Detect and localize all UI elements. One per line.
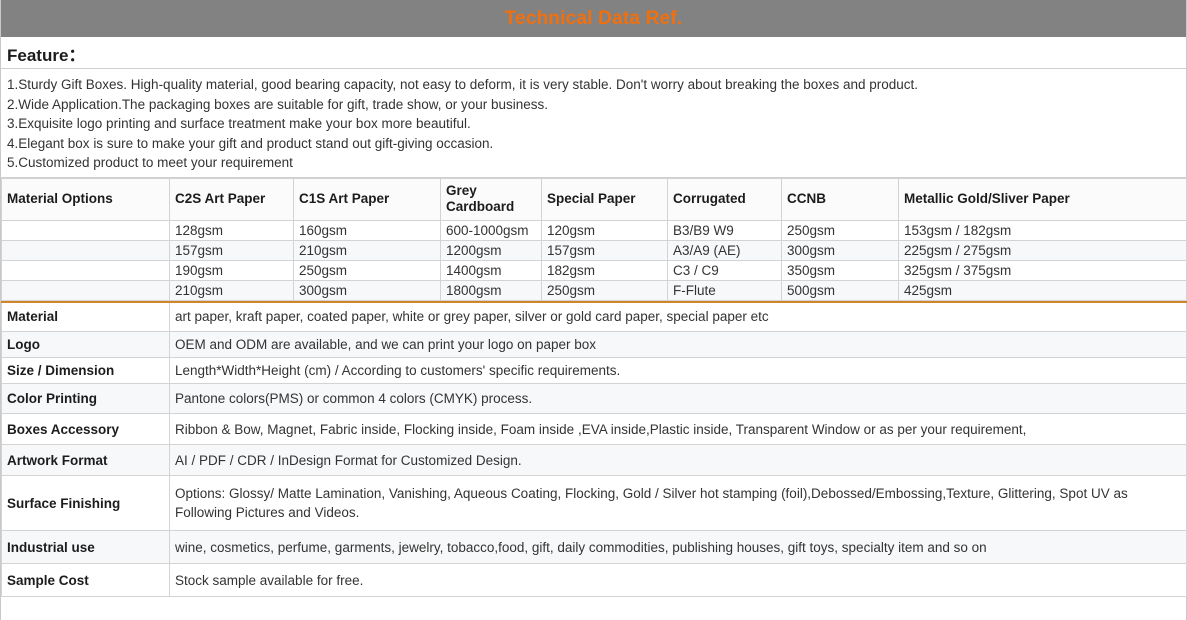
table-cell: 1400gsm bbox=[441, 260, 542, 280]
table-cell: 425gsm bbox=[899, 280, 1187, 300]
spec-value: Options: Glossy/ Matte Lamination, Vanis… bbox=[170, 476, 1187, 531]
table-header-cell: Metallic Gold/Sliver Paper bbox=[899, 178, 1187, 220]
table-cell: 1800gsm bbox=[441, 280, 542, 300]
spec-key: Color Printing bbox=[2, 384, 170, 414]
spec-value: Length*Width*Height (cm) / According to … bbox=[170, 358, 1187, 384]
table-header-cell: Corrugated bbox=[668, 178, 782, 220]
spec-value: Stock sample available for free. bbox=[170, 564, 1187, 597]
page-title: Technical Data Ref. bbox=[505, 8, 683, 30]
spec-row-surface-finishing: Surface Finishing Options: Glossy/ Matte… bbox=[2, 476, 1187, 531]
spec-key: Boxes Accessory bbox=[2, 414, 170, 445]
table-cell: 182gsm bbox=[542, 260, 668, 280]
technical-data-page: Technical Data Ref. Feature： 1.Sturdy Gi… bbox=[0, 0, 1187, 620]
table-cell: 225gsm / 275gsm bbox=[899, 240, 1187, 260]
table-row: 190gsm 250gsm 1400gsm 182gsm C3 / C9 350… bbox=[2, 260, 1187, 280]
table-cell: 153gsm / 182gsm bbox=[899, 220, 1187, 240]
spec-value: AI / PDF / CDR / InDesign Format for Cus… bbox=[170, 445, 1187, 476]
spec-row-logo: Logo OEM and ODM are available, and we c… bbox=[2, 332, 1187, 358]
table-header-cell: C2S Art Paper bbox=[170, 178, 294, 220]
spec-row-size: Size / Dimension Length*Width*Height (cm… bbox=[2, 358, 1187, 384]
table-cell: 210gsm bbox=[170, 280, 294, 300]
spec-row-color-printing: Color Printing Pantone colors(PMS) or co… bbox=[2, 384, 1187, 414]
spec-value: Pantone colors(PMS) or common 4 colors (… bbox=[170, 384, 1187, 414]
table-cell: 600-1000gsm bbox=[441, 220, 542, 240]
table-header-cell: CCNB bbox=[782, 178, 899, 220]
feature-item: 1.Sturdy Gift Boxes. High-quality materi… bbox=[7, 75, 1180, 95]
table-header-cell: Grey Cardboard bbox=[441, 178, 542, 220]
page-banner: Technical Data Ref. bbox=[1, 0, 1186, 38]
table-cell: 190gsm bbox=[170, 260, 294, 280]
feature-heading: Feature： bbox=[1, 38, 1186, 69]
table-cell: 350gsm bbox=[782, 260, 899, 280]
spec-key: Artwork Format bbox=[2, 445, 170, 476]
table-cell: 250gsm bbox=[782, 220, 899, 240]
spec-key: Material bbox=[2, 302, 170, 332]
spec-row-material: Material art paper, kraft paper, coated … bbox=[2, 302, 1187, 332]
table-cell: 250gsm bbox=[294, 260, 441, 280]
table-cell: 160gsm bbox=[294, 220, 441, 240]
table-row: 157gsm 210gsm 1200gsm 157gsm A3/A9 (AE) … bbox=[2, 240, 1187, 260]
feature-item: 3.Exquisite logo printing and surface tr… bbox=[7, 114, 1180, 134]
spec-row-industrial-use: Industrial use wine, cosmetics, perfume,… bbox=[2, 531, 1187, 564]
feature-item: 2.Wide Application.The packaging boxes a… bbox=[7, 95, 1180, 115]
material-options-table: Material Options C2S Art Paper C1S Art P… bbox=[1, 178, 1187, 301]
spec-value: Ribbon & Bow, Magnet, Fabric inside, Flo… bbox=[170, 414, 1187, 445]
feature-heading-label: Feature： bbox=[7, 41, 85, 66]
table-cell bbox=[2, 220, 170, 240]
table-cell: C3 / C9 bbox=[668, 260, 782, 280]
table-cell: 157gsm bbox=[542, 240, 668, 260]
feature-list: 1.Sturdy Gift Boxes. High-quality materi… bbox=[1, 69, 1186, 178]
feature-item: 5.Customized product to meet your requir… bbox=[7, 153, 1180, 173]
spec-key: Logo bbox=[2, 332, 170, 358]
table-cell: 500gsm bbox=[782, 280, 899, 300]
spec-key: Surface Finishing bbox=[2, 476, 170, 531]
table-row: 210gsm 300gsm 1800gsm 250gsm F-Flute 500… bbox=[2, 280, 1187, 300]
material-table-header-row: Material Options C2S Art Paper C1S Art P… bbox=[2, 178, 1187, 220]
table-cell: B3/B9 W9 bbox=[668, 220, 782, 240]
table-cell: 210gsm bbox=[294, 240, 441, 260]
table-header-cell: Special Paper bbox=[542, 178, 668, 220]
table-cell: 157gsm bbox=[170, 240, 294, 260]
table-cell: 1200gsm bbox=[441, 240, 542, 260]
table-cell bbox=[2, 260, 170, 280]
spec-row-boxes-accessory: Boxes Accessory Ribbon & Bow, Magnet, Fa… bbox=[2, 414, 1187, 445]
table-cell bbox=[2, 280, 170, 300]
table-cell: 128gsm bbox=[170, 220, 294, 240]
spec-value: art paper, kraft paper, coated paper, wh… bbox=[170, 302, 1187, 332]
spec-key: Size / Dimension bbox=[2, 358, 170, 384]
spec-value: OEM and ODM are available, and we can pr… bbox=[170, 332, 1187, 358]
spec-value: wine, cosmetics, perfume, garments, jewe… bbox=[170, 531, 1187, 564]
feature-item: 4.Elegant box is sure to make your gift … bbox=[7, 134, 1180, 154]
table-cell: 300gsm bbox=[294, 280, 441, 300]
table-cell bbox=[2, 240, 170, 260]
spec-key: Industrial use bbox=[2, 531, 170, 564]
table-cell: 250gsm bbox=[542, 280, 668, 300]
spec-key: Sample Cost bbox=[2, 564, 170, 597]
table-cell: F-Flute bbox=[668, 280, 782, 300]
table-cell: 325gsm / 375gsm bbox=[899, 260, 1187, 280]
spec-row-artwork-format: Artwork Format AI / PDF / CDR / InDesign… bbox=[2, 445, 1187, 476]
table-cell: A3/A9 (AE) bbox=[668, 240, 782, 260]
table-row: 128gsm 160gsm 600-1000gsm 120gsm B3/B9 W… bbox=[2, 220, 1187, 240]
spec-row-sample-cost: Sample Cost Stock sample available for f… bbox=[2, 564, 1187, 597]
table-header-cell: Material Options bbox=[2, 178, 170, 220]
table-cell: 120gsm bbox=[542, 220, 668, 240]
table-header-cell: C1S Art Paper bbox=[294, 178, 441, 220]
table-cell: 300gsm bbox=[782, 240, 899, 260]
specification-table: Material art paper, kraft paper, coated … bbox=[1, 301, 1187, 598]
